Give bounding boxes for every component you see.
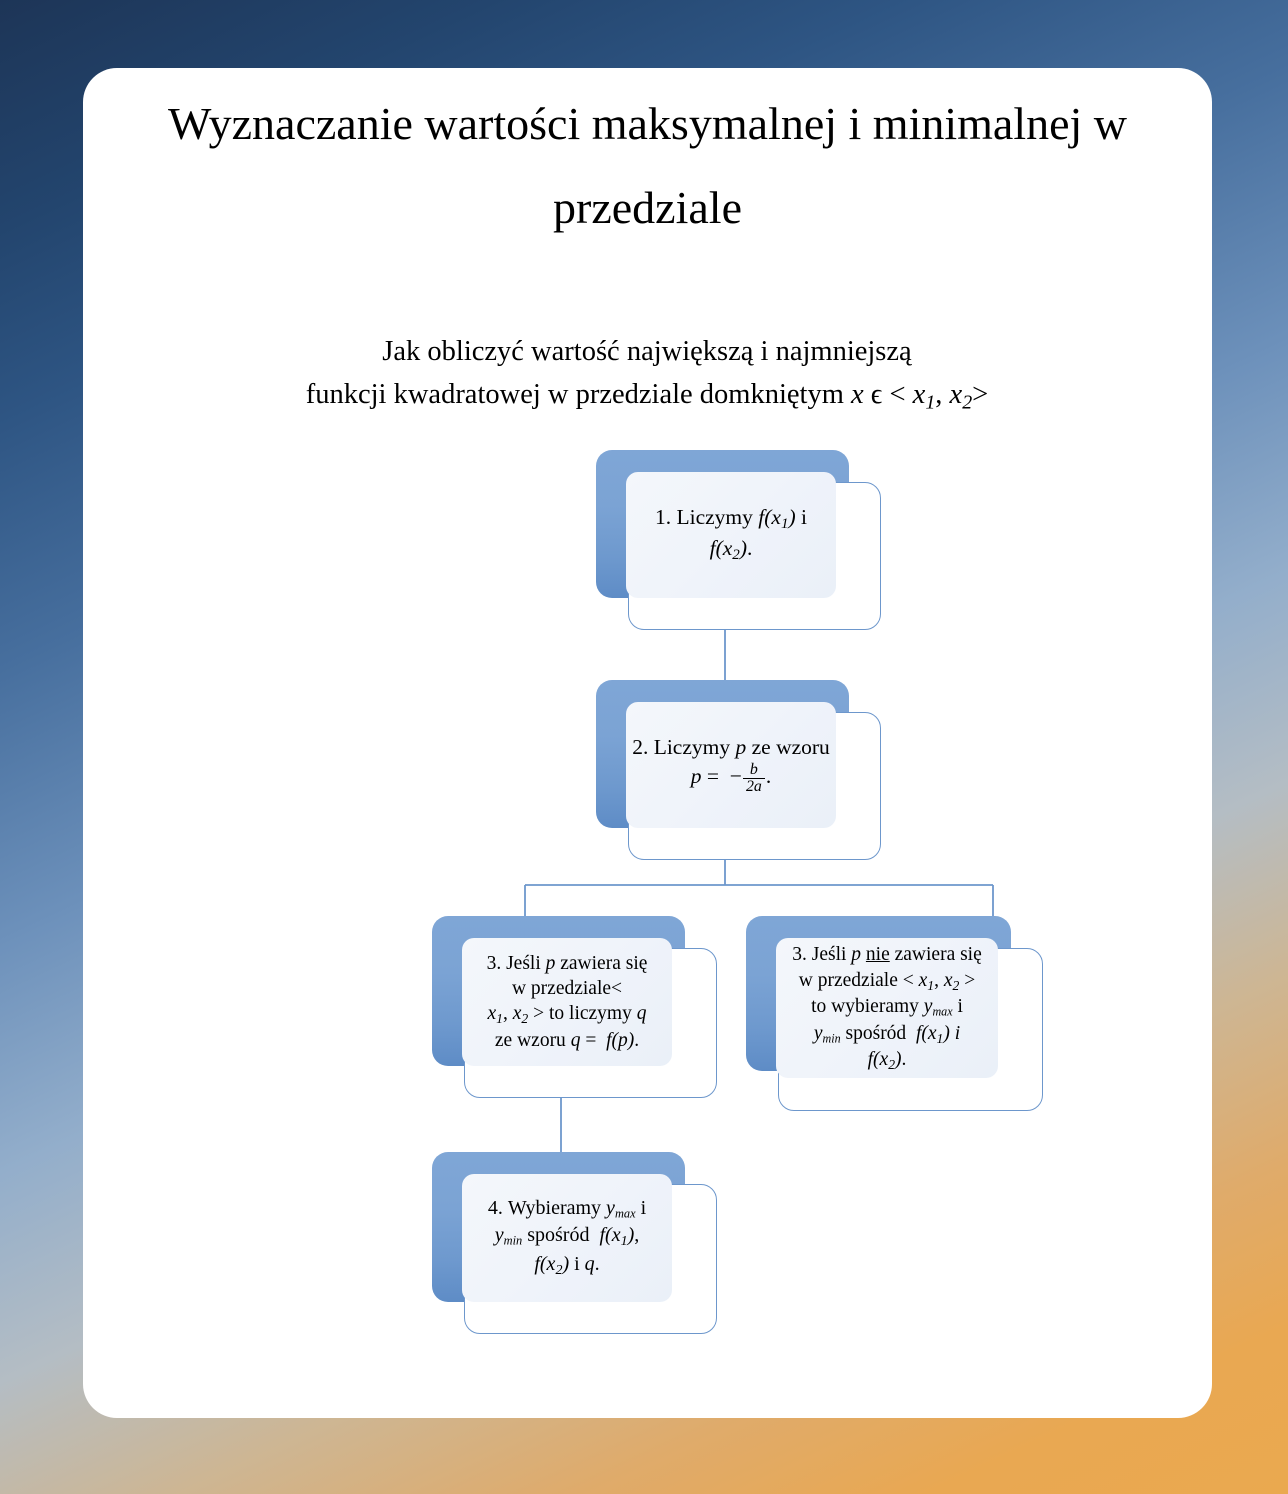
- node-card: 4. Wybieramy ymax i ymin spośród f(x1), …: [462, 1174, 672, 1302]
- slide-background: Wyznaczanie wartości maksymalnej i minim…: [0, 0, 1288, 1494]
- node-card: 1. Liczymy f(x1) i f(x2).: [626, 472, 836, 598]
- node-card: 3. Jeśli p nie zawiera się w przedziale …: [776, 938, 998, 1078]
- flow-node-step-3-no[interactable]: 3. Jeśli p nie zawiera się w przedziale …: [746, 916, 1043, 1111]
- fraction-b-over-2a: b2a: [743, 762, 765, 795]
- node-text-step-3-yes: 3. Jeśli p zawiera się w przedziale< x1,…: [462, 951, 672, 1054]
- node-text-step-3-no: 3. Jeśli p nie zawiera się w przedziale …: [776, 942, 998, 1073]
- flow-node-step-3-yes[interactable]: 3. Jeśli p zawiera się w przedziale< x1,…: [432, 916, 717, 1098]
- flowchart: 1. Liczymy f(x1) i f(x2). 2. Liczymy p z…: [83, 68, 1212, 1418]
- flow-node-step-2[interactable]: 2. Liczymy p ze wzoru p = −b2a.: [596, 680, 881, 860]
- node-text-step-1: 1. Liczymy f(x1) i f(x2).: [626, 504, 836, 566]
- flow-node-step-1[interactable]: 1. Liczymy f(x1) i f(x2).: [596, 450, 881, 630]
- flow-node-step-4[interactable]: 4. Wybieramy ymax i ymin spośród f(x1), …: [432, 1152, 717, 1334]
- node-card: 3. Jeśli p zawiera się w przedziale< x1,…: [462, 938, 672, 1066]
- node-text-step-2: 2. Liczymy p ze wzoru p = −b2a.: [626, 734, 836, 795]
- content-panel: Wyznaczanie wartości maksymalnej i minim…: [83, 68, 1212, 1418]
- emphasis-nie: nie: [866, 944, 890, 965]
- node-card: 2. Liczymy p ze wzoru p = −b2a.: [626, 702, 836, 828]
- node-text-step-4: 4. Wybieramy ymax i ymin spośród f(x1), …: [462, 1195, 672, 1280]
